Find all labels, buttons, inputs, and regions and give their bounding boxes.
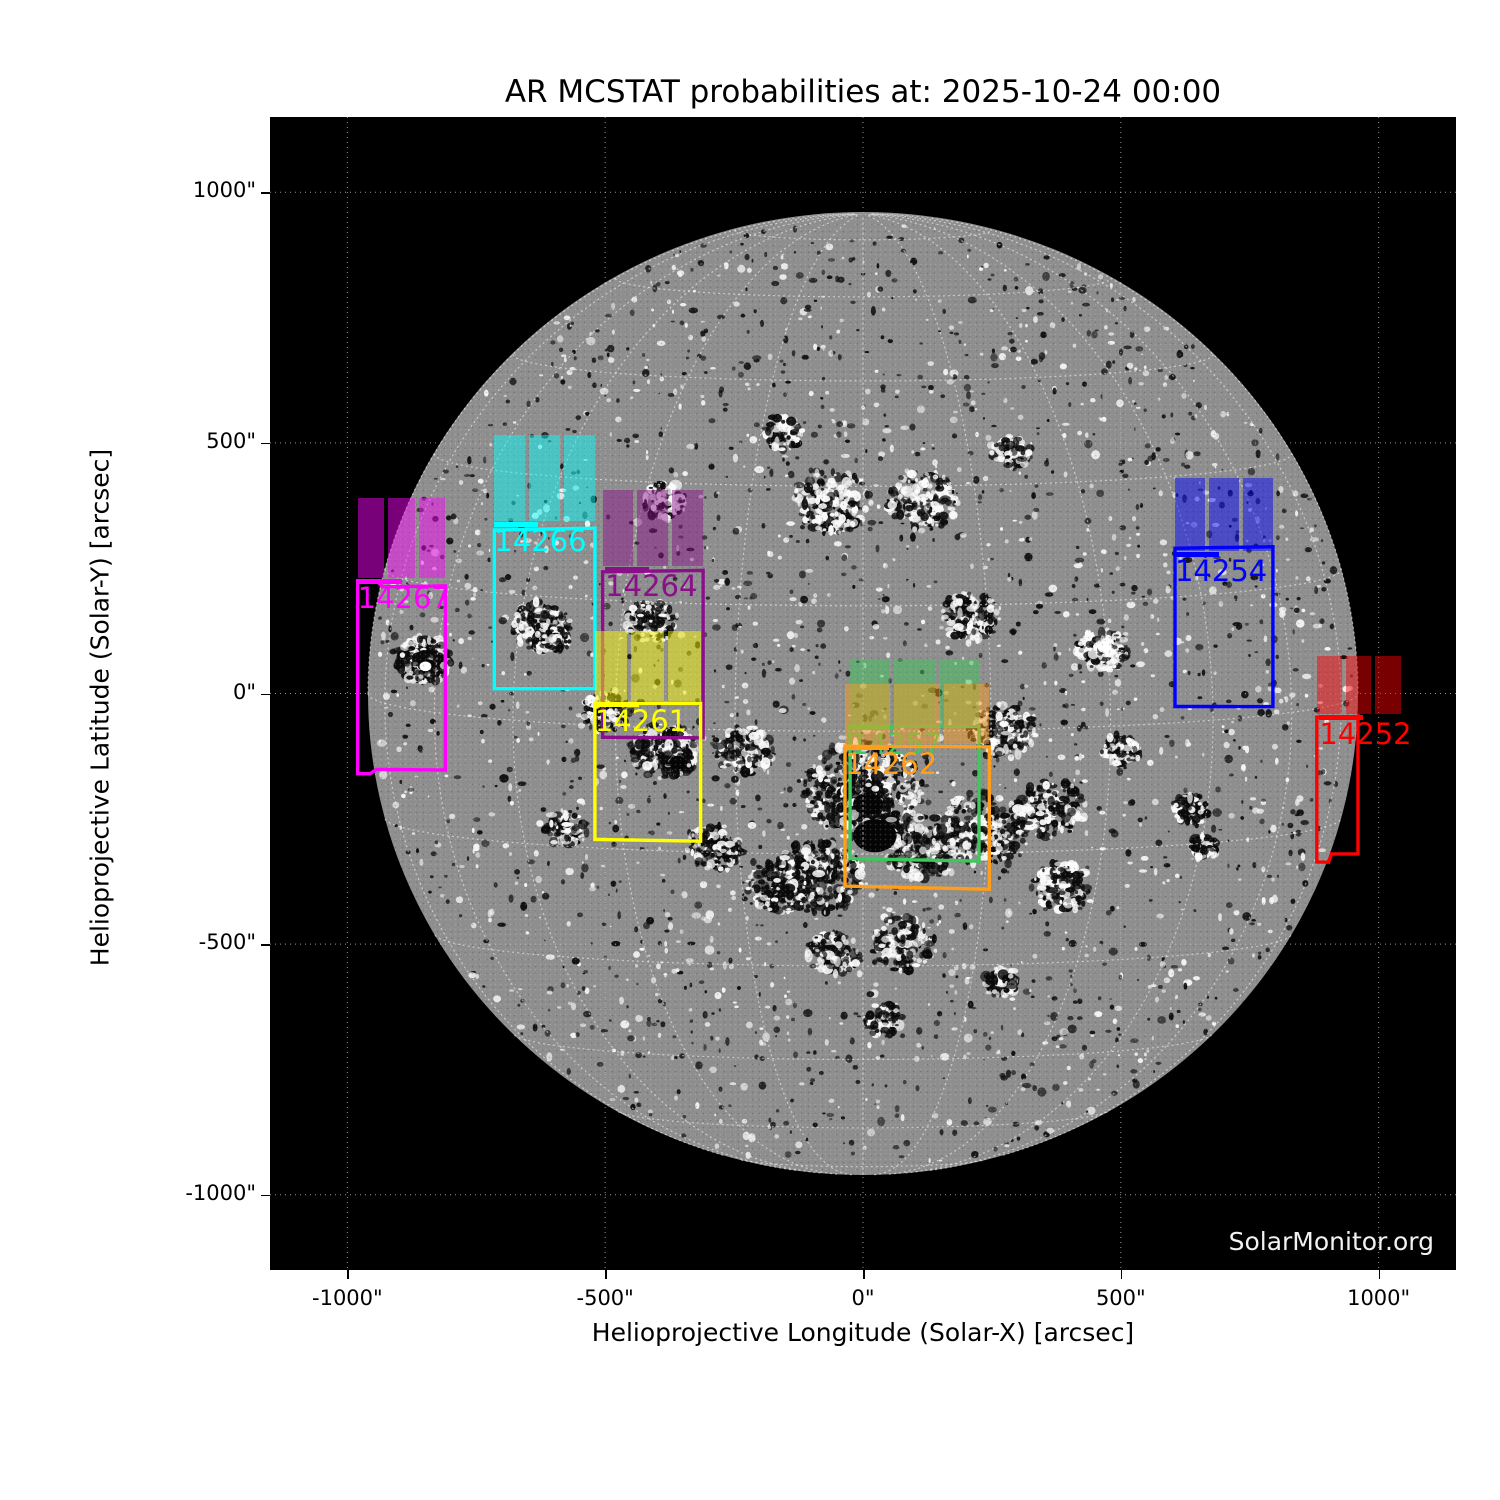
y-tick-label: -500": [199, 930, 256, 954]
x-tick-mark: [1379, 1270, 1381, 1279]
x-tick-mark: [347, 1270, 349, 1279]
y-axis-label: Helioprojective Latitude (Solar-Y) [arcs…: [86, 208, 115, 1208]
x-tick-label: 0": [783, 1286, 943, 1310]
y-tick-mark: [261, 694, 270, 696]
solar-monitor-figure: AR MCSTAT probabilities at: 2025-10-24 0…: [0, 0, 1500, 1500]
heliographic-grid: [270, 117, 1456, 1270]
x-tick-label: -1000": [267, 1286, 427, 1310]
plot-area[interactable]: 1426714266142641426114257142621425414252…: [270, 117, 1456, 1270]
y-tick-mark: [261, 1195, 270, 1197]
y-tick-label: 0": [233, 680, 256, 704]
x-tick-label: 1000": [1299, 1286, 1459, 1310]
watermark: SolarMonitor.org: [1229, 1227, 1434, 1256]
x-tick-mark: [863, 1270, 865, 1279]
y-tick-mark: [261, 944, 270, 946]
x-axis-label: Helioprojective Longitude (Solar-X) [arc…: [270, 1318, 1456, 1347]
y-tick-label: 500": [206, 429, 256, 453]
y-tick-mark: [261, 192, 270, 194]
x-tick-label: 500": [1041, 1286, 1201, 1310]
x-tick-mark: [1121, 1270, 1123, 1279]
y-tick-mark: [261, 443, 270, 445]
page-title: AR MCSTAT probabilities at: 2025-10-24 0…: [270, 74, 1456, 110]
x-tick-mark: [605, 1270, 607, 1279]
x-tick-label: -500": [525, 1286, 685, 1310]
y-tick-label: -1000": [185, 1181, 256, 1205]
y-tick-label: 1000": [193, 178, 256, 202]
